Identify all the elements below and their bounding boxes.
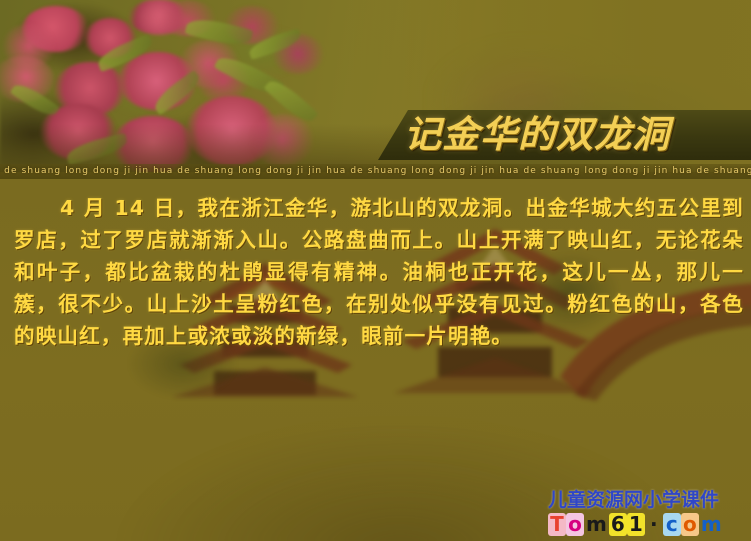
slide-canvas: 记金华的双龙洞 hua de shuang long dong ji jin h… <box>0 0 751 541</box>
watermark-logo-char: 6 <box>609 513 627 536</box>
watermark-logo-char: c <box>663 513 681 536</box>
watermark-logo-char: · <box>645 513 663 536</box>
page-title: 记金华的双龙洞 <box>404 112 751 158</box>
content-area: 4 月 14 日，我在浙江金华，游北山的双龙洞。出金华城大约五公里到罗店，过了罗… <box>0 179 751 541</box>
watermark-logo: Tom61·com <box>548 512 748 537</box>
watermark-logo-char: 1 <box>627 513 645 536</box>
watermark: 儿童资源网小学课件 Tom61·com <box>548 489 748 539</box>
lesson-body-text: 4 月 14 日，我在浙江金华，游北山的双龙洞。出金华城大约五公里到罗店，过了罗… <box>14 192 744 352</box>
watermark-logo-char: o <box>566 513 584 536</box>
watermark-logo-char: m <box>584 513 609 536</box>
watermark-logo-char: o <box>681 513 699 536</box>
watermark-chinese-text: 儿童资源网小学课件 <box>548 489 748 511</box>
pinyin-marquee-strip: hua de shuang long dong ji jin hua de sh… <box>0 164 751 179</box>
pinyin-marquee-text: hua de shuang long dong ji jin hua de sh… <box>0 164 751 179</box>
watermark-logo-char: T <box>548 513 566 536</box>
watermark-logo-char: m <box>699 513 724 536</box>
